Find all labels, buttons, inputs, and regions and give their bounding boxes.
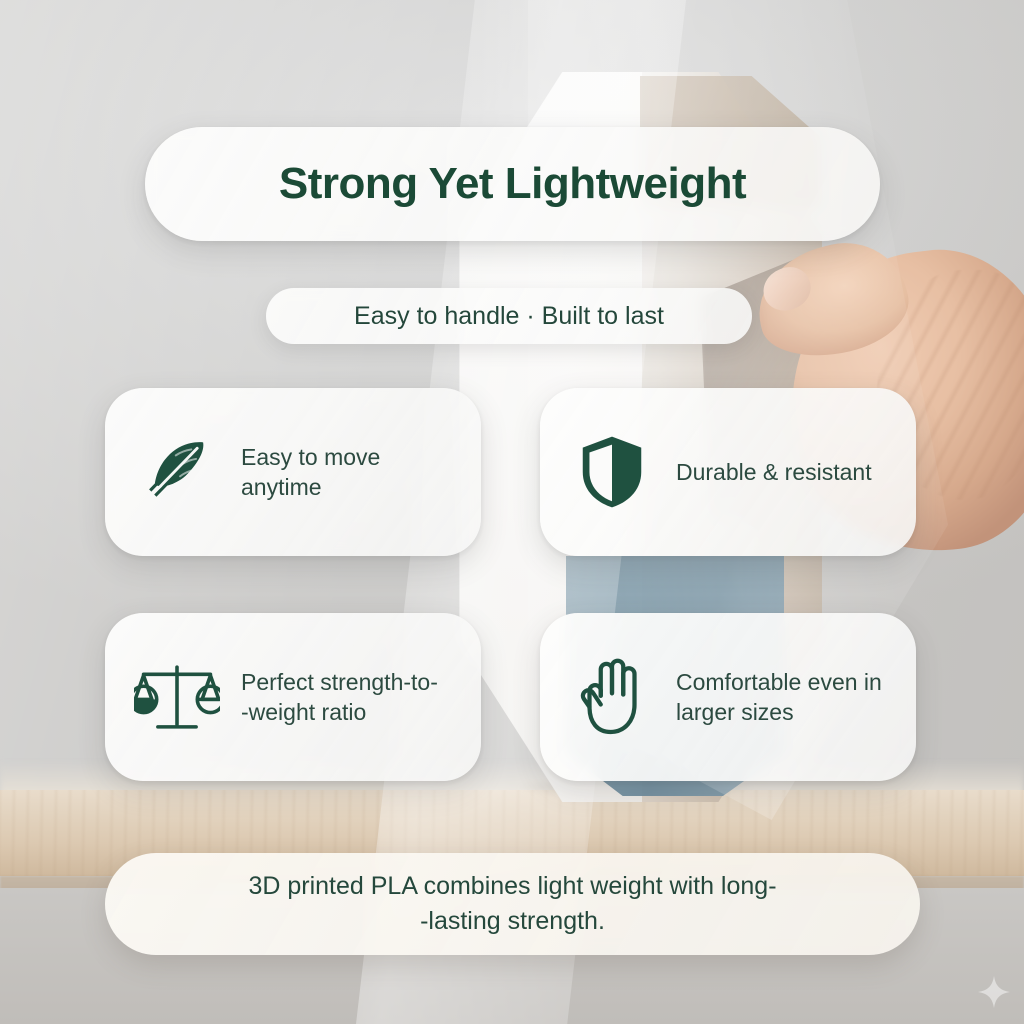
feature-card-label: Perfect strength-to--weight ratio [241, 667, 438, 728]
feature-card-easy-to-move[interactable]: Easy to move anytime [105, 388, 481, 556]
feature-card-strength-ratio[interactable]: Perfect strength-to--weight ratio [105, 613, 481, 781]
page-title: Strong Yet Lightweight [279, 159, 746, 209]
feature-card-label: Durable & resistant [676, 457, 872, 487]
footer-text: 3D printed PLA combines light weight wit… [208, 869, 816, 940]
sparkle-icon [974, 974, 1014, 1014]
shield-icon [566, 426, 658, 518]
feature-card-label: Easy to move anytime [241, 442, 459, 503]
feather-icon [131, 426, 223, 518]
feature-card-label: Comfortable even in larger sizes [676, 667, 894, 728]
open-hand-icon [566, 651, 658, 743]
balance-scale-icon [131, 651, 223, 743]
title-panel: Strong Yet Lightweight [145, 127, 880, 241]
page-subtitle: Easy to handle · Built to last [354, 302, 664, 331]
poster-stage: Strong Yet Lightweight Easy to handle · … [0, 0, 1024, 1024]
footer-panel: 3D printed PLA combines light weight wit… [105, 853, 920, 955]
subtitle-panel: Easy to handle · Built to last [266, 288, 752, 344]
feature-card-comfortable[interactable]: Comfortable even in larger sizes [540, 613, 916, 781]
feature-card-durable[interactable]: Durable & resistant [540, 388, 916, 556]
